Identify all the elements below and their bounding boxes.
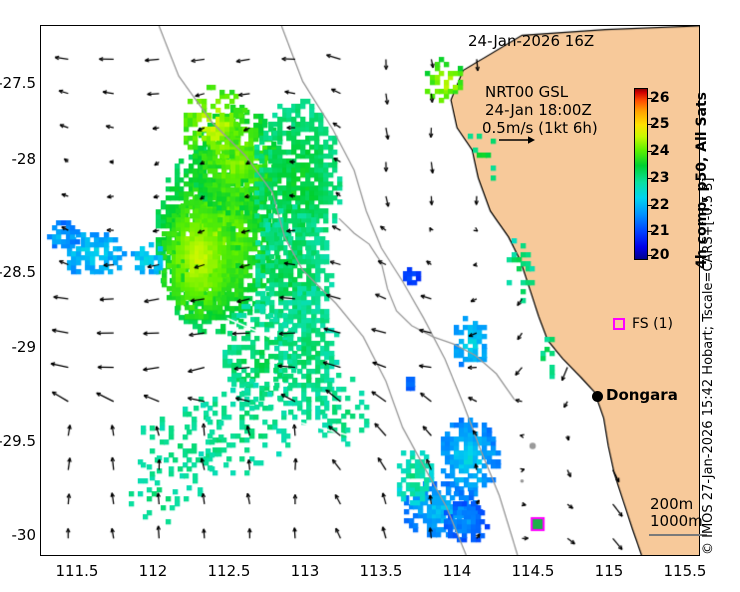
colorbar-gradient [634,88,648,260]
ytick-label: -27.5 [0,74,36,92]
colorbar-tick-label: 25 [650,117,669,131]
colorbar-tick-label: 26 [650,91,669,105]
xtick-label: 113 [270,562,340,580]
station-marker-swatch [613,318,625,330]
xtick-label: 115.5 [650,562,720,580]
ytick-label: -28 [0,150,36,168]
place-marker-dongara [592,391,603,402]
depth-contour-legend: 200m 1000m [650,496,703,530]
depth-label-200m: 200m [650,496,703,513]
figure-canvas: -27.5 -28 -28.5 -29 -29.5 -30 111.5 112 … [0,0,740,592]
colorbar-tick-label: 21 [650,224,669,238]
ytick-label: -29.5 [0,432,36,450]
xtick-label: 112.5 [194,562,264,580]
valid-time-annotation: 24-Jan 18:00Z [485,101,592,119]
map-plot-area[interactable] [40,25,700,556]
credit-text: © IMOS 27-Jan-2026 15:42 Hobart; Tscale=… [701,178,716,555]
colorbar-tick-label: 22 [650,198,669,212]
xtick-label: 113.5 [346,562,416,580]
depth-label-1000m: 1000m [650,513,703,530]
ytick-label: -30 [0,526,36,544]
xtick-label: 115 [574,562,644,580]
station-legend-label: FS (1) [632,316,673,332]
vector-scale-arrow-icon [499,133,535,147]
xtick-label: 114.5 [498,562,568,580]
place-label-dongara: Dongara [606,386,678,404]
sst-map-canvas [41,26,699,555]
model-source-annotation: NRT00 GSL [485,83,568,101]
xtick-label: 114 [422,562,492,580]
ytick-label: -28.5 [0,263,36,281]
xtick-label: 111.5 [42,562,112,580]
depth-legend-rule [649,534,707,536]
colorbar-tick-label: 24 [650,144,669,158]
colorbar-tick-label: 23 [650,171,669,185]
xtick-label: 112 [118,562,188,580]
map-date-annotation: 24-Jan-2026 16Z [468,32,594,50]
colorbar-tick-label: 20 [650,248,669,262]
ytick-label: -29 [0,338,36,356]
station-legend[interactable]: FS (1) [613,316,673,332]
